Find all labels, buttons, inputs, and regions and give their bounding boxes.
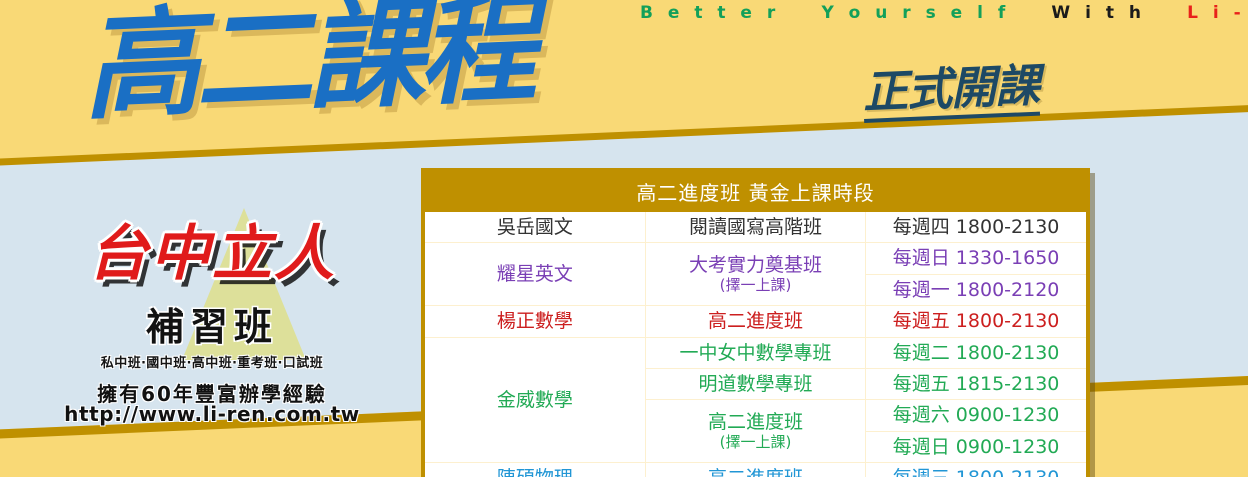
cell-teacher: 楊正數學	[425, 306, 645, 337]
cell-time: 每週三 1800-2130	[866, 463, 1086, 477]
cell-time: 每週五 1800-2130	[866, 306, 1086, 337]
tagline-part-better: B e t t e r	[640, 3, 780, 23]
cell-time: 每週六 0900-1230	[866, 400, 1086, 431]
schedule-table-container: 高二進度班 黃金上課時段 吳岳國文閱讀國寫高階班每週四 1800-2130耀星英…	[421, 168, 1090, 477]
cell-time: 每週五 1815-2130	[866, 369, 1086, 400]
table-row: 陳碩物理高二進度班每週三 1800-2130	[425, 463, 1086, 477]
cell-course: 高二進度班	[645, 306, 865, 337]
cell-time: 每週日 0900-1230	[866, 431, 1086, 462]
cell-time: 每週二 1800-2130	[866, 337, 1086, 368]
page-subtitle: 正式開課	[862, 63, 1040, 123]
cell-teacher: 吳岳國文	[425, 212, 645, 243]
logo-website-url[interactable]: http://www.li-ren.com.tw	[36, 402, 388, 426]
table-header-title: 高二進度班 黃金上課時段	[425, 172, 1086, 212]
cell-course: 高二進度班(擇一上課)	[645, 400, 865, 463]
cell-course-note: (擇一上課)	[646, 434, 865, 452]
poster-canvas: B e t t e r Y o u r s e l f W i t h L i …	[0, 0, 1248, 477]
page-title: 高二課程	[80, 0, 533, 126]
schedule-table: 高二進度班 黃金上課時段 吳岳國文閱讀國寫高階班每週四 1800-2130耀星英…	[425, 172, 1086, 477]
cell-teacher: 金威數學	[425, 337, 645, 463]
cell-teacher: 陳碩物理	[425, 463, 645, 477]
brand-logo: 台中立人 補習班 私中班‧國中班‧高中班‧重考班‧口試班 擁有60年豐富辦學經驗…	[36, 212, 388, 412]
cell-course: 明道數學專班	[645, 369, 865, 400]
cell-course-note: (擇一上課)	[646, 277, 865, 295]
cell-course: 閱讀國寫高階班	[645, 212, 865, 243]
table-body: 吳岳國文閱讀國寫高階班每週四 1800-2130耀星英文大考實力奠基班(擇一上課…	[425, 212, 1086, 477]
tagline-part-yourself: Y o u r s e l f	[821, 3, 1009, 23]
cell-teacher: 耀星英文	[425, 243, 645, 306]
logo-class-types: 私中班‧國中班‧高中班‧重考班‧口試班	[36, 352, 388, 371]
table-row: 耀星英文大考實力奠基班(擇一上課)每週日 1330-1650	[425, 243, 1086, 274]
tagline-part-with: W i t h	[1051, 3, 1145, 23]
tagline: B e t t e r Y o u r s e l f W i t h L i …	[640, 3, 1248, 23]
table-row: 吳岳國文閱讀國寫高階班每週四 1800-2130	[425, 212, 1086, 243]
cell-time: 每週一 1800-2120	[866, 274, 1086, 305]
cell-course: 大考實力奠基班(擇一上課)	[645, 243, 865, 306]
logo-subname: 補習班	[36, 308, 388, 346]
table-row: 金威數學一中女中數學專班每週二 1800-2130	[425, 337, 1086, 368]
cell-time: 每週日 1330-1650	[866, 243, 1086, 274]
cell-course: 一中女中數學專班	[645, 337, 865, 368]
table-header-row: 高二進度班 黃金上課時段	[425, 172, 1086, 212]
cell-course: 高二進度班	[645, 463, 865, 477]
logo-name: 台中立人	[36, 224, 388, 284]
table-row: 楊正數學高二進度班每週五 1800-2130	[425, 306, 1086, 337]
cell-time: 每週四 1800-2130	[866, 212, 1086, 243]
tagline-part-liren: L i - R e n	[1187, 3, 1248, 23]
